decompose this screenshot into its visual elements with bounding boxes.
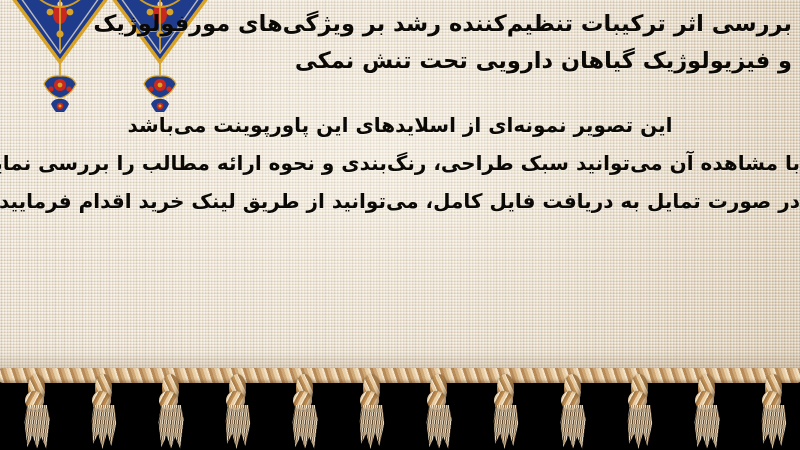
body-line-3: در صورت تمایل به دریافت فایل کامل، می‌تو…	[0, 182, 800, 220]
fringe-skirt	[225, 405, 251, 449]
body-line-1: این تصویر نمونه‌ای از اسلایدهای این پاور…	[0, 106, 800, 144]
title-line-1: بررسی اثر ترکیبات تنظیم‌کننده رشد بر ویژ…	[92, 6, 792, 43]
fringe-tassel	[359, 374, 385, 448]
fringe-tassel	[694, 374, 720, 448]
fringe-tassel	[560, 374, 586, 448]
slide-title: بررسی اثر ترکیبات تنظیم‌کننده رشد بر ویژ…	[92, 6, 792, 80]
title-line-2: و فیزیولوژیک گیاهان دارویی تحت تنش نمکی	[92, 43, 792, 80]
body-line-2: با مشاهده آن می‌توانید سبک طراحی، رنگ‌بن…	[0, 144, 800, 182]
presentation-slide: بررسی اثر ترکیبات تنظیم‌کننده رشد بر ویژ…	[0, 0, 800, 450]
fringe-tassel	[627, 374, 653, 448]
fringe-skirt	[694, 405, 720, 449]
fringe-tassel	[24, 374, 50, 448]
fringe-tassel	[225, 374, 251, 448]
fringe-skirt	[24, 405, 50, 449]
fringe-skirt	[426, 405, 452, 449]
fringe-skirt	[359, 405, 385, 449]
fringe-skirt	[761, 405, 787, 449]
slide-body: این تصویر نمونه‌ای از اسلایدهای این پاور…	[0, 106, 800, 220]
fringe-tassel	[158, 374, 184, 448]
fringe-skirt	[292, 405, 318, 449]
fringe-skirt	[158, 405, 184, 449]
fringe-tassel	[761, 374, 787, 448]
carpet-fringe	[0, 360, 800, 450]
fringe-skirt	[627, 405, 653, 449]
fringe-cord	[0, 368, 800, 383]
fringe-tassel	[493, 374, 519, 448]
fringe-skirt	[493, 405, 519, 449]
fringe-skirt	[560, 405, 586, 449]
fringe-skirt	[91, 405, 117, 449]
fringe-tassel	[91, 374, 117, 448]
fringe-tassel	[426, 374, 452, 448]
fringe-tassel	[292, 374, 318, 448]
